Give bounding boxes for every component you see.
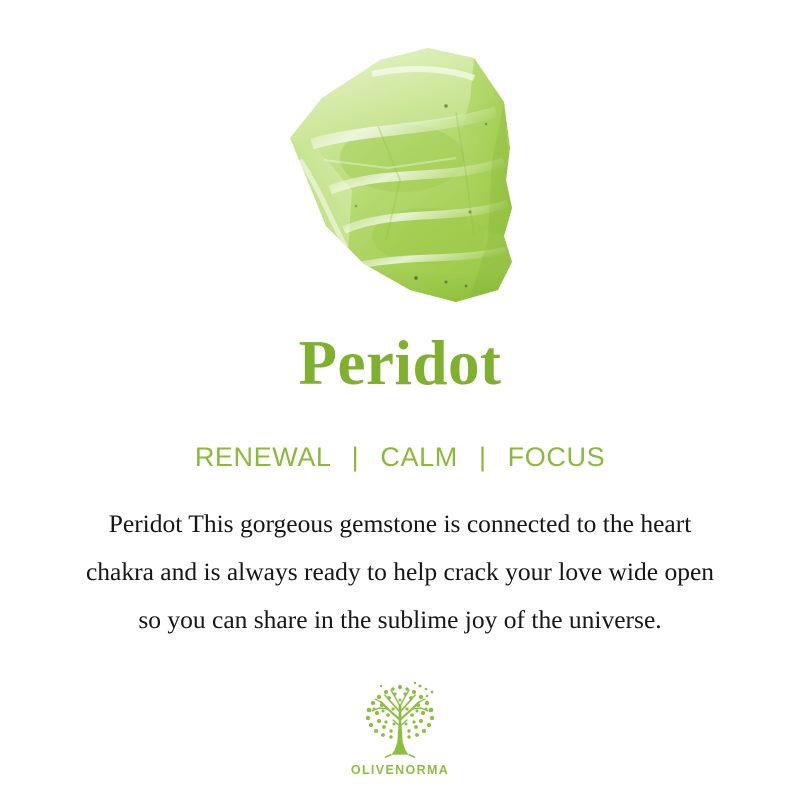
tree-of-life-icon	[357, 680, 443, 762]
tree-roots	[385, 755, 415, 758]
stone-inclusion	[414, 276, 418, 280]
product-card: Peridot RENEWAL | CALM | FOCUS Peridot T…	[0, 0, 800, 800]
brand-logo: OLIVENORMA	[0, 680, 800, 777]
keyword-separator: |	[339, 443, 373, 473]
stone-inclusion	[445, 281, 448, 284]
gemstone-image	[0, 40, 800, 315]
keyword-calm: CALM	[380, 442, 457, 472]
stone-inclusion	[355, 205, 358, 208]
stone-inclusion	[469, 211, 472, 214]
tree-trunk	[391, 724, 408, 755]
keyword-focus: FOCUS	[508, 442, 606, 472]
stone-inclusion	[485, 123, 488, 126]
stone-inclusion	[444, 104, 447, 107]
stone-inclusion	[465, 285, 468, 288]
description-line: so you can share in the sublime joy of t…	[0, 596, 800, 644]
peridot-crystal-illustration	[260, 40, 540, 310]
description-line: Peridot This gorgeous gemstone is connec…	[0, 500, 800, 548]
keyword-separator: |	[466, 443, 500, 473]
page-title: Peridot	[0, 332, 800, 395]
product-description: Peridot This gorgeous gemstone is connec…	[0, 500, 800, 644]
keyword-renewal: RENEWAL	[195, 442, 331, 472]
keyword-list: RENEWAL | CALM | FOCUS	[0, 443, 800, 473]
description-line: chakra and is always ready to help crack…	[0, 548, 800, 596]
brand-wordmark: OLIVENORMA	[0, 763, 800, 777]
